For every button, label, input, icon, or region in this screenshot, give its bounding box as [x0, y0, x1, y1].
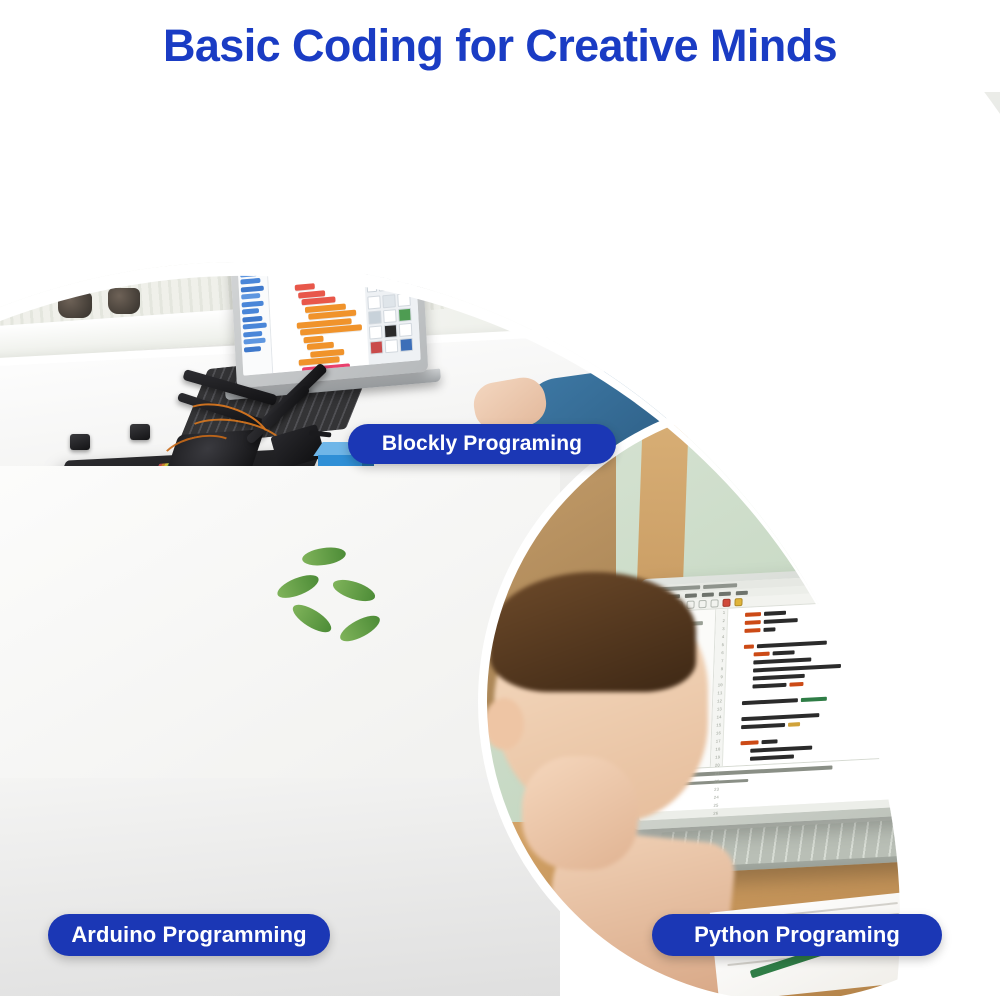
desk-surface	[0, 778, 560, 1000]
token	[801, 697, 827, 702]
control-button[interactable]	[389, 276, 399, 283]
status-interpreter	[895, 797, 991, 805]
device-thumbnail[interactable]	[399, 322, 413, 336]
page-title: Basic Coding for Creative Minds	[0, 20, 1000, 72]
control-button[interactable]	[367, 285, 377, 292]
block-stack-main[interactable]	[293, 279, 374, 376]
palette-block[interactable]	[238, 240, 258, 247]
blockly-side-panel	[361, 216, 420, 364]
leaf	[330, 576, 377, 606]
device-thumbnail[interactable]	[383, 309, 397, 323]
device-thumbnail[interactable]	[398, 307, 412, 321]
servo-motor	[70, 434, 90, 450]
laptop-lid	[228, 194, 429, 389]
device-thumbnail[interactable]	[400, 337, 414, 351]
palette-block[interactable]	[241, 293, 260, 300]
panel-python-scene: 1234567891011121314151617181920212223242…	[486, 402, 1000, 1000]
badge-label: Arduino Programming	[71, 922, 306, 948]
browser-tab[interactable]	[238, 217, 247, 221]
code-block[interactable]	[290, 237, 316, 245]
code-block[interactable]	[297, 252, 315, 260]
device-thumbnail[interactable]	[367, 295, 381, 309]
device-thumbnail[interactable]	[384, 324, 398, 338]
device-thumbnail[interactable]	[385, 339, 399, 353]
code-block[interactable]	[310, 348, 344, 357]
hair	[490, 572, 696, 692]
decor-pot	[58, 292, 92, 318]
servo-motor	[130, 424, 150, 440]
palette-block[interactable]	[242, 315, 262, 322]
leaf	[274, 570, 321, 602]
code-block[interactable]	[303, 335, 323, 343]
menu-item[interactable]	[238, 223, 252, 229]
device-thumbnail[interactable]	[370, 340, 384, 354]
poster-root: 4243444546474849505152535455565758596061…	[0, 0, 1000, 1000]
palette-block[interactable]	[242, 308, 259, 314]
palette-block[interactable]	[244, 346, 261, 352]
device-thumbnail[interactable]	[397, 292, 411, 306]
badge-blockly-programming[interactable]: Blockly Programing	[348, 424, 616, 464]
palette-block[interactable]	[240, 271, 257, 277]
house-plant	[272, 536, 392, 646]
blockly-app-screen[interactable]	[235, 201, 421, 375]
token	[789, 682, 803, 687]
device-thumbnail[interactable]	[368, 310, 382, 324]
device-thumbnail[interactable]	[369, 325, 383, 339]
blockly-workspace[interactable]	[266, 221, 369, 373]
browser-tab[interactable]	[249, 216, 258, 220]
decor-pot	[108, 288, 140, 314]
palette-block[interactable]	[240, 263, 262, 270]
leaf	[301, 545, 347, 568]
badge-python-programming[interactable]: Python Programing	[652, 914, 942, 956]
control-button[interactable]	[378, 284, 388, 291]
palette-block[interactable]	[239, 248, 262, 255]
badge-label: Blockly Programing	[382, 432, 582, 456]
menu-item[interactable]	[272, 220, 286, 226]
code-block[interactable]	[295, 283, 315, 291]
code-block[interactable]	[307, 342, 334, 350]
hood-roll	[744, 262, 904, 382]
laptop-blockly	[228, 194, 429, 389]
palette-block[interactable]	[239, 256, 257, 263]
blockly-body	[236, 216, 421, 375]
control-button[interactable]	[366, 278, 376, 285]
hair	[656, 84, 834, 194]
badge-arduino-programming[interactable]: Arduino Programming	[48, 914, 330, 956]
fist	[522, 756, 638, 870]
palette-block[interactable]	[243, 330, 262, 337]
menu-item[interactable]	[255, 222, 269, 228]
heading-band: Basic Coding for Creative Minds	[0, 0, 1000, 92]
palette-block[interactable]	[243, 323, 267, 330]
device-thumbnails[interactable]	[365, 290, 420, 356]
menu-item[interactable]	[289, 219, 303, 225]
leaf	[337, 611, 384, 647]
control-button[interactable]	[378, 277, 388, 284]
camera-preview	[363, 218, 414, 274]
block-stack-top[interactable]	[290, 237, 317, 262]
palette-block[interactable]	[238, 233, 255, 239]
control-button[interactable]	[390, 283, 400, 290]
palette-block[interactable]	[241, 285, 264, 292]
sticky-note	[921, 413, 982, 493]
sticky-note	[852, 418, 918, 507]
webcam-icon	[322, 205, 325, 208]
palette-block[interactable]	[242, 300, 264, 307]
device-thumbnail[interactable]	[382, 294, 396, 308]
palette-block[interactable]	[243, 338, 265, 345]
control-button[interactable]	[401, 282, 411, 289]
control-button[interactable]	[401, 275, 411, 282]
browser-tab[interactable]	[260, 215, 269, 219]
sticky-note	[983, 431, 1000, 503]
badge-label: Python Programing	[694, 922, 900, 948]
leaf	[289, 600, 335, 638]
palette-block[interactable]	[240, 278, 260, 285]
